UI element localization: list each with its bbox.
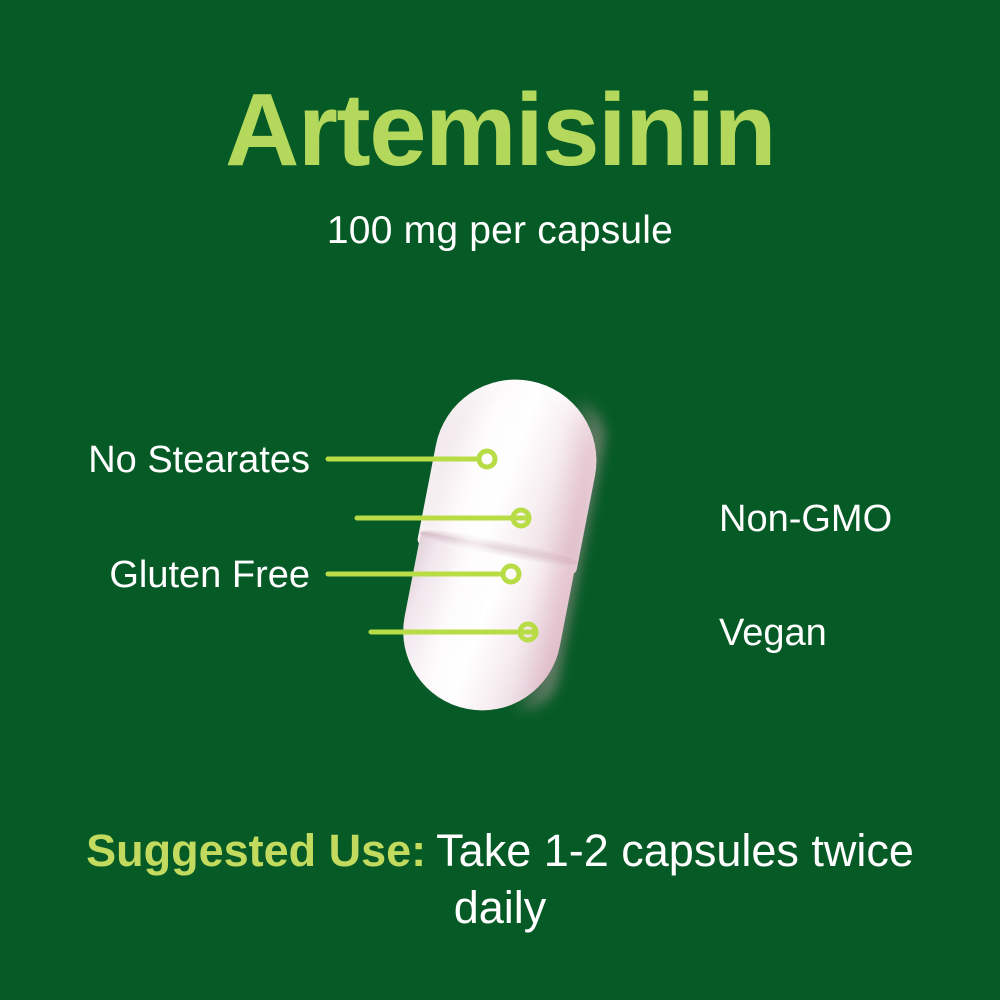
suggested-use-instruction: Take 1-2 capsules twice daily — [436, 825, 914, 933]
product-label-poster: Artemisinin 100 mg per capsule No Steara… — [0, 0, 1000, 1000]
suggested-use-label: Suggested Use: — [86, 825, 426, 876]
callout-label-gluten-free: Gluten Free — [97, 556, 310, 594]
callout-label-non-gmo: Non-GMO — [719, 500, 919, 538]
callout-label-no-stearates: No Stearates — [68, 441, 310, 479]
callout-marker-icon — [479, 451, 495, 467]
callout-label-vegan: Vegan — [719, 614, 849, 652]
callout-marker-icon — [503, 566, 519, 582]
suggested-use-block: Suggested Use:Take 1-2 capsules twice da… — [62, 822, 938, 936]
